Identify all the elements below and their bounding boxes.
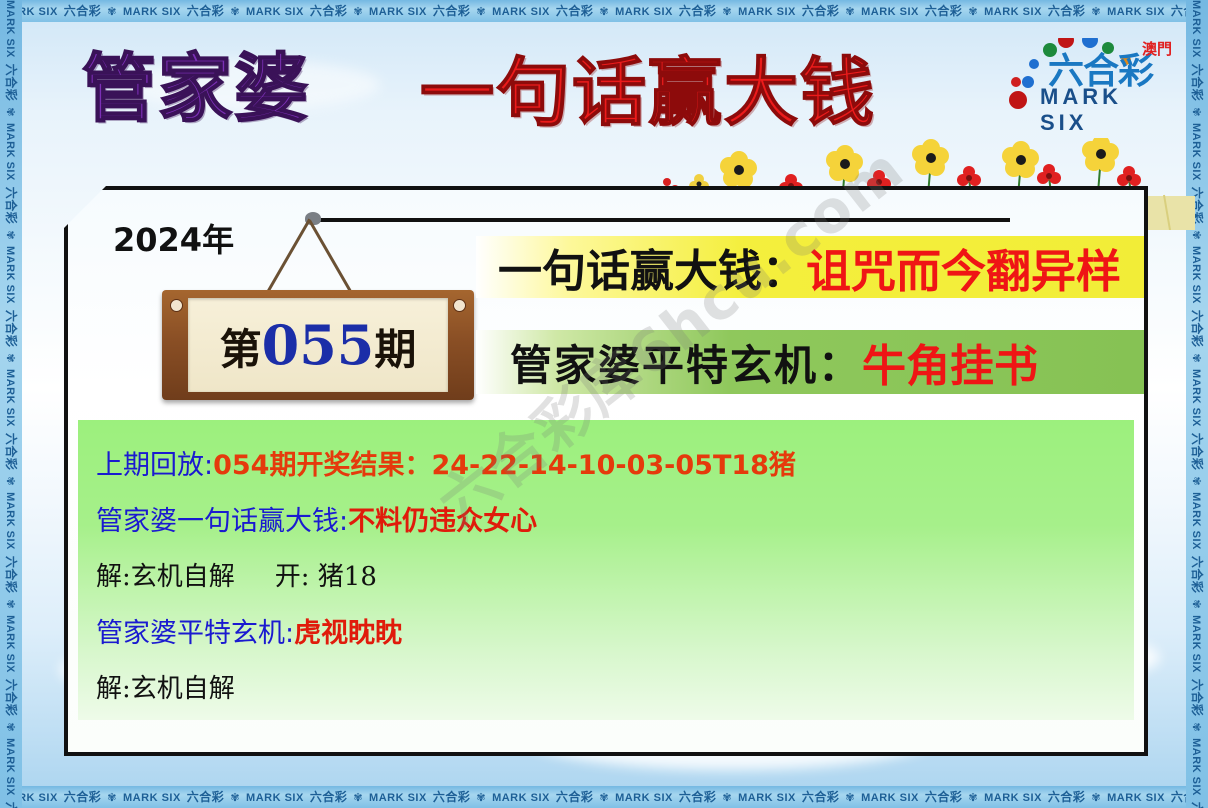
explain-1-result: 开: 猪18 <box>275 556 377 593</box>
slogan-value: 不料仍违众女心 <box>348 499 537 538</box>
issue-prefix: 第 <box>220 325 262 374</box>
content-row-explain-2: 解:玄机自解 <box>78 658 1134 714</box>
header-slogan: 一句话赢大钱 <box>420 56 876 130</box>
yellow-banner-value: 诅咒而今翻异样 <box>806 235 1121 300</box>
green-banner-label: 管家婆平特玄机： <box>510 332 862 393</box>
yellow-banner: 一句话赢大钱： 诅咒而今翻异样 <box>476 236 1144 298</box>
yellow-banner-label: 一句话赢大钱： <box>498 235 806 299</box>
content-row-explain-1: 解:玄机自解 开: 猪18 <box>78 546 1134 602</box>
explain-2-text: 解:玄机自解 <box>96 668 235 705</box>
brand-title: 管家婆 <box>82 52 310 126</box>
replay-value: 054期开奖结果：24-22-14-10-03-05T18猪 <box>213 443 796 482</box>
border-pattern-bottom: MARK SIX六合彩✾MARK SIX六合彩✾MARK SIX六合彩✾MARK… <box>0 786 1208 808</box>
sign-board: 第055期 <box>162 290 474 400</box>
poster-root: MARK SIX六合彩✾MARK SIX六合彩✾MARK SIX六合彩✾MARK… <box>0 0 1208 808</box>
border-pattern-top: MARK SIX六合彩✾MARK SIX六合彩✾MARK SIX六合彩✾MARK… <box>0 0 1208 22</box>
border-right: MARK SIX六合彩✾MARK SIX六合彩✾MARK SIX六合彩✾MARK… <box>1186 0 1208 808</box>
slogan-label: 管家婆一句话赢大钱: <box>96 499 348 538</box>
pingte-value: 虎视眈眈 <box>294 611 402 650</box>
issue-suffix: 期 <box>374 325 416 374</box>
sign-hole-left-icon <box>170 299 183 312</box>
replay-label: 上期回放: <box>96 443 213 482</box>
content-row-replay: 上期回放: 054期开奖结果：24-22-14-10-03-05T18猪 <box>78 434 1134 490</box>
hanging-issue-sign: 第055期 <box>150 200 480 405</box>
border-top: MARK SIX六合彩✾MARK SIX六合彩✾MARK SIX六合彩✾MARK… <box>0 0 1208 22</box>
sign-rod <box>310 218 1010 222</box>
content-box: 上期回放: 054期开奖结果：24-22-14-10-03-05T18猪 管家婆… <box>78 420 1134 720</box>
sign-hole-right-icon <box>453 299 466 312</box>
issue-text: 第055期 <box>188 318 448 377</box>
border-left: MARK SIX六合彩✾MARK SIX六合彩✾MARK SIX六合彩✾MARK… <box>0 0 22 808</box>
pingte-label: 管家婆平特玄机: <box>96 611 294 650</box>
content-row-pingte: 管家婆平特玄机: 虎视眈眈 <box>78 602 1134 658</box>
green-banner: 管家婆平特玄机： 牛角挂书 <box>476 330 1144 394</box>
green-banner-value: 牛角挂书 <box>862 330 1038 394</box>
border-pattern-left: MARK SIX六合彩✾MARK SIX六合彩✾MARK SIX六合彩✾MARK… <box>0 0 22 808</box>
mark-six-logo: 六合彩 MARK SIX 澳門 <box>1004 38 1174 118</box>
content-row-slogan: 管家婆一句话赢大钱: 不料仍违众女心 <box>78 490 1134 546</box>
logo-english-text: MARK SIX <box>1040 84 1174 136</box>
border-bottom: MARK SIX六合彩✾MARK SIX六合彩✾MARK SIX六合彩✾MARK… <box>0 786 1208 808</box>
sign-paper: 第055期 <box>188 298 448 392</box>
explain-1-text: 解:玄机自解 <box>96 556 235 593</box>
border-pattern-right: MARK SIX六合彩✾MARK SIX六合彩✾MARK SIX六合彩✾MARK… <box>1186 0 1208 808</box>
issue-number: 055 <box>262 313 375 377</box>
logo-region-text: 澳門 <box>1142 38 1172 59</box>
